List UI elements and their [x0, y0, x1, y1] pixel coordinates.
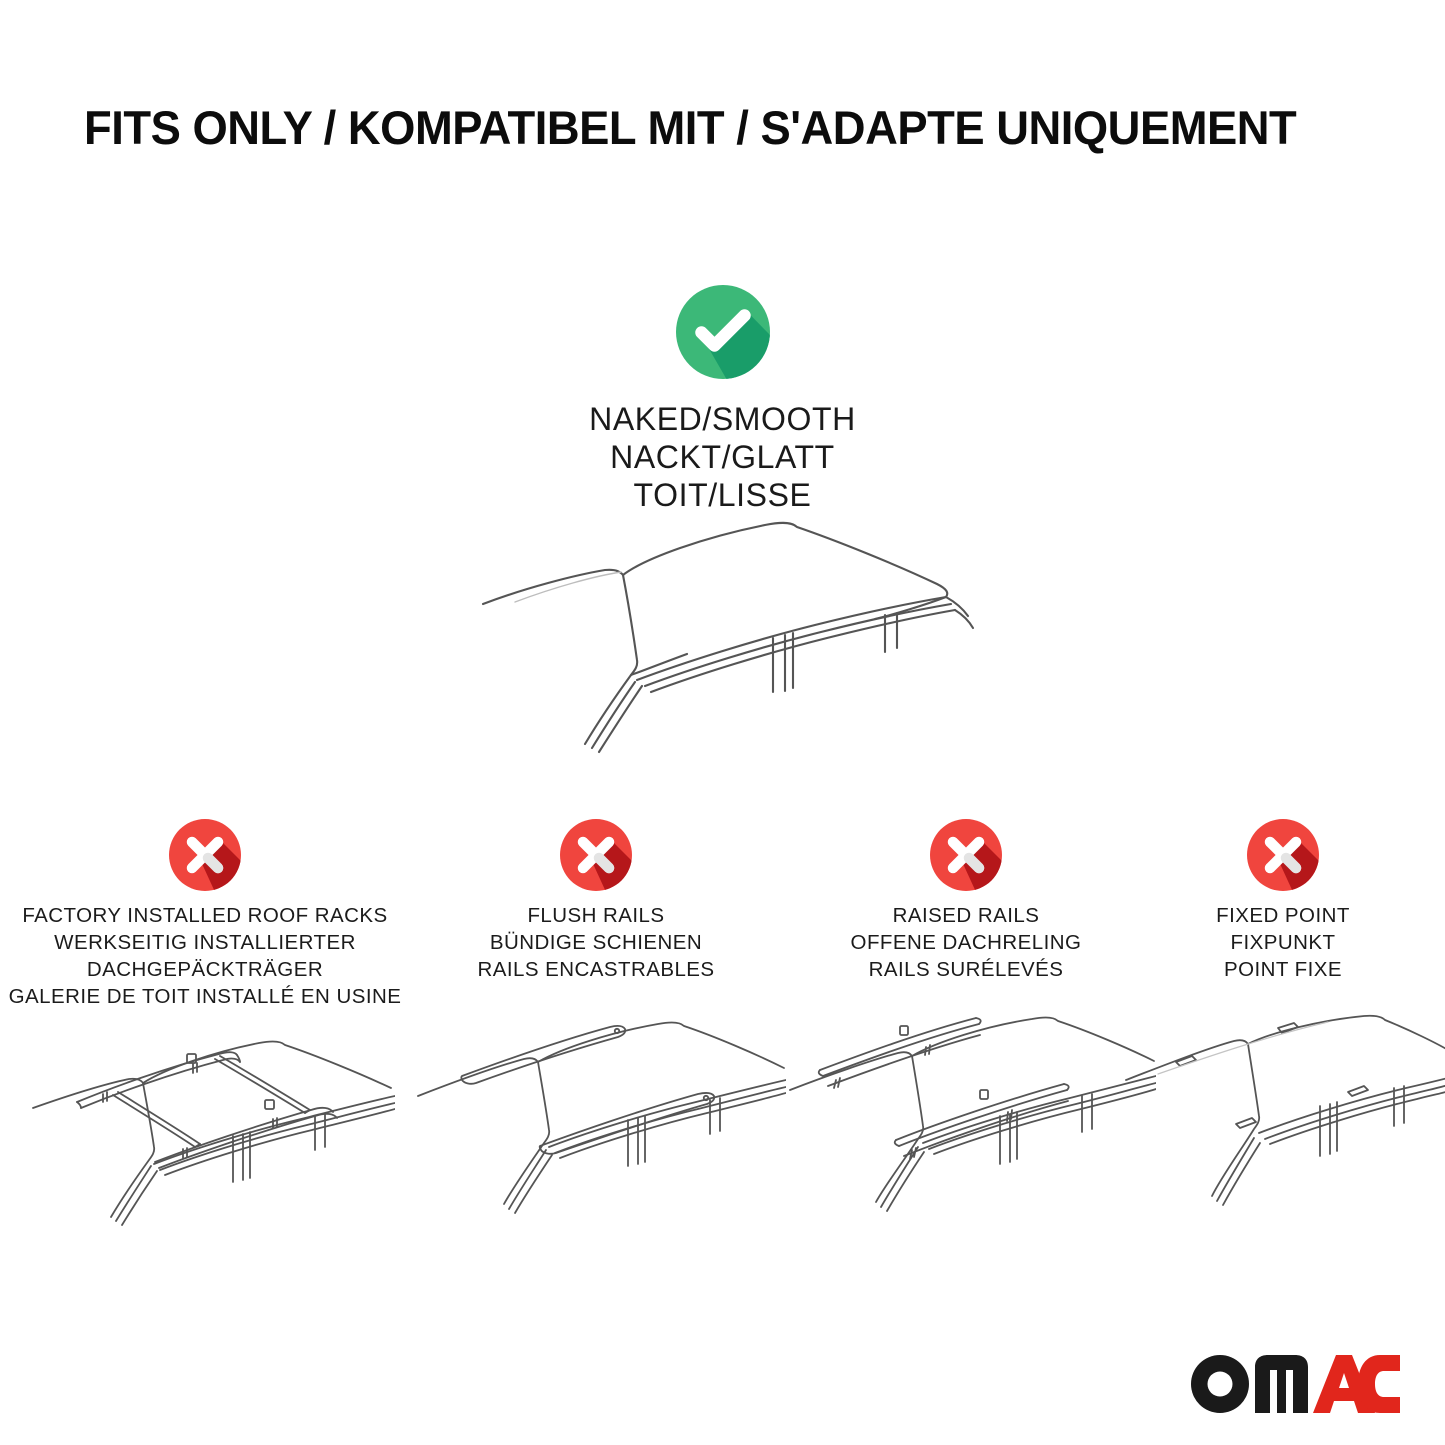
incompatible-label-factory-rack: FACTORY INSTALLED ROOF RACKS WERKSEITIG …: [5, 902, 405, 1010]
label-line-fr: POINT FIXE: [1136, 956, 1430, 983]
omac-logo: [1189, 1353, 1401, 1415]
check-circle-icon: [675, 284, 771, 380]
cross-circle-icon: [412, 818, 780, 892]
car-roof-raised-rails-drawing: [776, 1014, 1156, 1249]
page-title: FITS ONLY / KOMPATIBEL MIT / S'ADAPTE UN…: [84, 104, 1329, 151]
compatible-section: NAKED/SMOOTH NACKT/GLATT TOIT/LISSE: [0, 284, 1445, 514]
car-roof-flush-rails-drawing: [406, 1014, 786, 1249]
incompatible-item-fixed-point: FIXED POINT FIXPUNKT POINT FIXE: [1136, 818, 1430, 983]
label-line-fr: GALERIE DE TOIT INSTALLÉ EN USINE: [5, 983, 405, 1010]
incompatible-item-flush-rails: FLUSH RAILS BÜNDIGE SCHIENEN RAILS ENCAS…: [412, 818, 780, 983]
incompatible-label-flush-rails: FLUSH RAILS BÜNDIGE SCHIENEN RAILS ENCAS…: [412, 902, 780, 983]
label-line-en: RAISED RAILS: [782, 902, 1150, 929]
label-line-de-1: WERKSEITIG INSTALLIERTER: [5, 929, 405, 956]
label-line-fr: RAILS SURÉLEVÉS: [782, 956, 1150, 983]
incompatible-item-raised-rails: RAISED RAILS OFFENE DACHRELING RAILS SUR…: [782, 818, 1150, 983]
incompatible-label-raised-rails: RAISED RAILS OFFENE DACHRELING RAILS SUR…: [782, 902, 1150, 983]
compatible-label-line-en: NAKED/SMOOTH: [0, 401, 1445, 439]
incompatible-item-factory-rack: FACTORY INSTALLED ROOF RACKS WERKSEITIG …: [5, 818, 405, 1010]
compatible-label-line-de: NACKT/GLATT: [0, 439, 1445, 477]
car-roof-fixed-point-drawing: [1118, 1014, 1445, 1249]
incompatible-label-fixed-point: FIXED POINT FIXPUNKT POINT FIXE: [1136, 902, 1430, 983]
cross-circle-icon: [1136, 818, 1430, 892]
car-roof-factory-rack-drawing: [15, 1014, 395, 1249]
label-line-de: BÜNDIGE SCHIENEN: [412, 929, 780, 956]
label-line-en: FACTORY INSTALLED ROOF RACKS: [5, 902, 405, 929]
label-line-en: FLUSH RAILS: [412, 902, 780, 929]
incompatible-section: FACTORY INSTALLED ROOF RACKS WERKSEITIG …: [0, 818, 1445, 1288]
label-line-en: FIXED POINT: [1136, 902, 1430, 929]
label-line-fr: RAILS ENCASTRABLES: [412, 956, 780, 983]
compatibility-infographic: FITS ONLY / KOMPATIBEL MIT / S'ADAPTE UN…: [0, 0, 1445, 1445]
cross-circle-icon: [5, 818, 405, 892]
label-line-de-2: DACHGEPÄCKTRÄGER: [5, 956, 405, 983]
cross-circle-icon: [782, 818, 1150, 892]
label-line-de: FIXPUNKT: [1136, 929, 1430, 956]
car-roof-naked-smooth-drawing: [455, 492, 1025, 762]
label-line-de: OFFENE DACHRELING: [782, 929, 1150, 956]
